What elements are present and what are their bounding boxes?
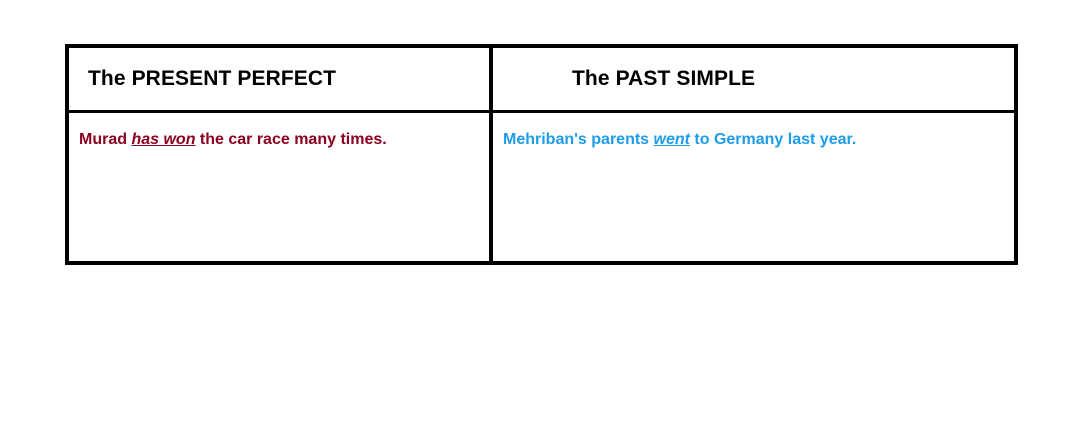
header-cell-past-simple: The PAST SIMPLE — [491, 46, 1016, 112]
tenses-comparison-table: The PRESENT PERFECT The PAST SIMPLE Mura… — [65, 44, 1018, 265]
header-title-past-simple: The PAST SIMPLE — [572, 67, 755, 91]
highlighted-verb-has-won: has won — [131, 131, 195, 148]
sentence-text-after: the car race many times. — [195, 131, 386, 148]
highlighted-verb-went: went — [654, 131, 690, 148]
example-sentence-past-simple: Mehriban's parents went to Germany last … — [503, 130, 1004, 150]
header-title-present-perfect: The PRESENT PERFECT — [88, 67, 336, 91]
page-canvas: The PRESENT PERFECT The PAST SIMPLE Mura… — [0, 0, 1080, 433]
table-header-row: The PRESENT PERFECT The PAST SIMPLE — [67, 46, 1016, 112]
sentence-text-before: Murad — [79, 131, 131, 148]
body-cell-past-simple: Mehriban's parents went to Germany last … — [491, 112, 1016, 264]
sentence-text-after: to Germany last year. — [690, 131, 856, 148]
sentence-text-before: Mehriban's parents — [503, 131, 654, 148]
body-cell-present-perfect: Murad has won the car race many times. — [67, 112, 491, 264]
table-body-row: Murad has won the car race many times. M… — [67, 112, 1016, 264]
header-cell-present-perfect: The PRESENT PERFECT — [67, 46, 491, 112]
example-sentence-present-perfect: Murad has won the car race many times. — [79, 130, 479, 150]
